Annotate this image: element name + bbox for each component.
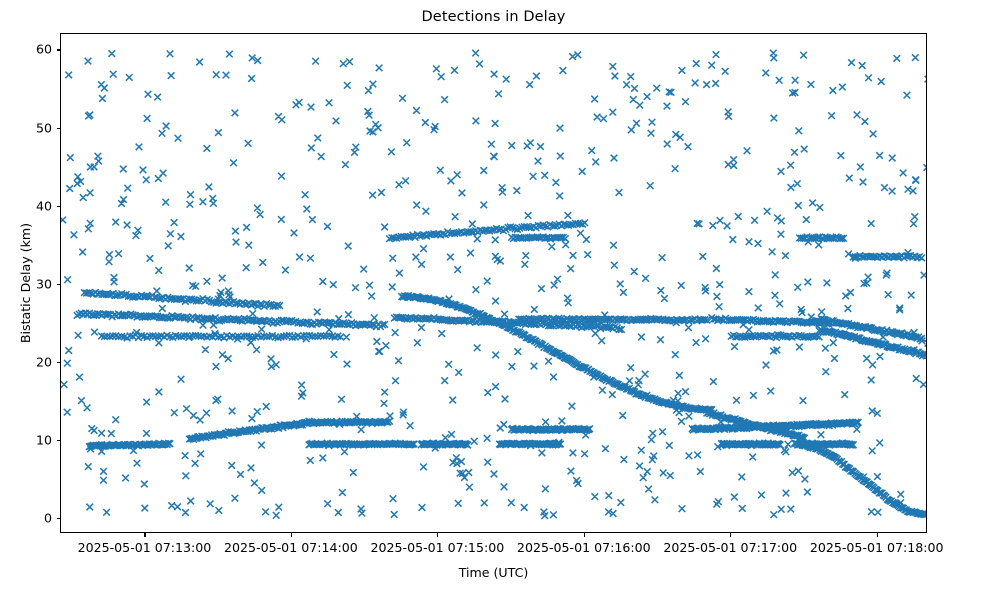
y-tickmark xyxy=(57,440,61,441)
y-tickmark xyxy=(57,206,61,207)
y-tick-label: 20 xyxy=(36,354,52,369)
y-tickmark xyxy=(57,362,61,363)
scatter-markers xyxy=(61,50,927,519)
y-tick-label: 50 xyxy=(36,120,52,135)
chart-title: Detections in Delay xyxy=(0,9,987,25)
plot-area[interactable] xyxy=(60,33,927,533)
figure-canvas: Detections in Delay Bistatic Delay (km) … xyxy=(0,0,987,590)
x-tickmark xyxy=(584,533,585,537)
y-tick-label: 40 xyxy=(36,198,52,213)
x-tick-label: 2025-05-01 07:13:00 xyxy=(78,540,212,555)
x-tick-label: 2025-05-01 07:17:00 xyxy=(663,540,797,555)
x-axis-label: Time (UTC) xyxy=(60,565,927,580)
x-tick-label: 2025-05-01 07:15:00 xyxy=(370,540,504,555)
y-tickmark xyxy=(57,518,61,519)
y-tick-label: 10 xyxy=(36,433,52,448)
y-tickmark xyxy=(57,128,61,129)
x-tick-label: 2025-05-01 07:16:00 xyxy=(517,540,651,555)
x-tickmark xyxy=(730,533,731,537)
x-tick-label: 2025-05-01 07:18:00 xyxy=(810,540,944,555)
y-tickmark xyxy=(57,284,61,285)
y-tickmark xyxy=(57,49,61,50)
y-axis-tick-labels: 0102030405060 xyxy=(0,0,52,590)
x-tick-label: 2025-05-01 07:14:00 xyxy=(224,540,358,555)
x-tickmark xyxy=(877,533,878,537)
y-tick-label: 30 xyxy=(36,276,52,291)
x-tickmark xyxy=(437,533,438,537)
scatter-points-layer xyxy=(61,34,927,533)
x-tickmark xyxy=(291,533,292,537)
x-tickmark xyxy=(144,533,145,537)
y-tick-label: 0 xyxy=(44,511,52,526)
y-tick-label: 60 xyxy=(36,42,52,57)
